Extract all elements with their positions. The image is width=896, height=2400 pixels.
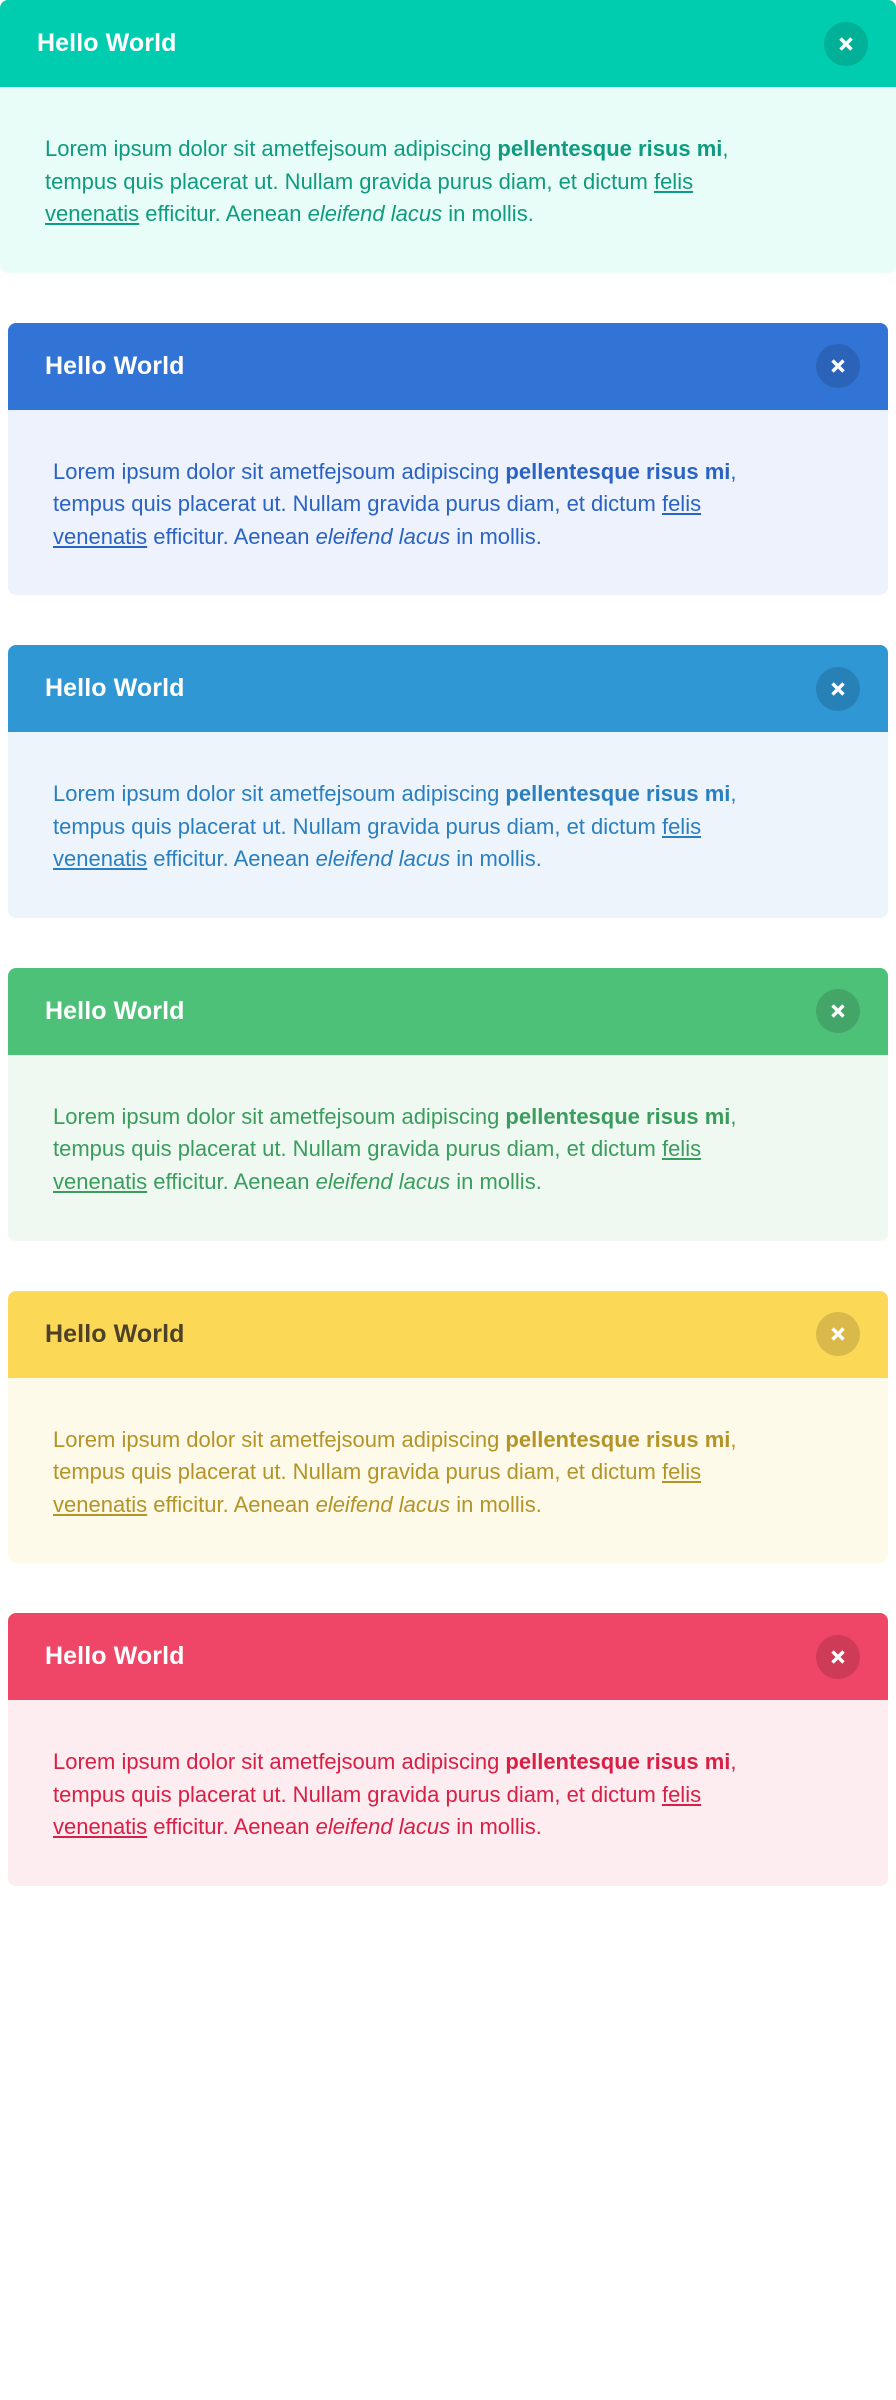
close-button-yellow[interactable] — [816, 1312, 860, 1356]
close-button-red[interactable] — [816, 1635, 860, 1679]
alert-body: Lorem ipsum dolor sit ametfejsoum adipis… — [8, 1378, 888, 1564]
alert-title-green: Hello World — [45, 999, 185, 1024]
alert-card-red: Hello World Lorem ipsum dolor sit ametfe… — [8, 1613, 888, 1886]
close-button-green[interactable] — [816, 989, 860, 1033]
alert-body: Lorem ipsum dolor sit ametfejsoum adipis… — [8, 410, 888, 596]
alert-title-yellow: Hello World — [45, 1322, 185, 1347]
alert-header-lightblue: Hello World — [8, 645, 888, 732]
alert-text-italic: eleifend lacus — [316, 524, 451, 549]
close-button-blue[interactable] — [816, 344, 860, 388]
alert-header-blue: Hello World — [8, 323, 888, 410]
alert-text-tail: in mollis. — [450, 1169, 542, 1194]
close-icon — [828, 1324, 848, 1344]
alert-text-lead: Lorem ipsum dolor sit ametfejsoum adipis… — [53, 781, 505, 806]
alert-title-lightblue: Hello World — [45, 676, 185, 701]
close-icon — [836, 34, 856, 54]
alert-body: Lorem ipsum dolor sit ametfejsoum adipis… — [0, 87, 896, 273]
alert-message: Lorem ipsum dolor sit ametfejsoum adipis… — [53, 1101, 753, 1199]
alert-text-lead: Lorem ipsum dolor sit ametfejsoum adipis… — [53, 459, 505, 484]
alert-text-tail: in mollis. — [442, 201, 534, 226]
alert-header-green: Hello World — [8, 968, 888, 1055]
alert-card-green: Hello World Lorem ipsum dolor sit ametfe… — [8, 968, 888, 1241]
alert-text-bold: pellentesque risus mi — [505, 1104, 730, 1129]
alert-message: Lorem ipsum dolor sit ametfejsoum adipis… — [53, 456, 753, 554]
alert-text-bold: pellentesque risus mi — [505, 1427, 730, 1452]
alert-text-lead: Lorem ipsum dolor sit ametfejsoum adipis… — [53, 1104, 505, 1129]
close-icon — [828, 1001, 848, 1021]
alert-text-italic: eleifend lacus — [316, 1492, 451, 1517]
alert-title-red: Hello World — [45, 1644, 185, 1669]
alert-text-tail: in mollis. — [450, 1814, 542, 1839]
alert-message: Lorem ipsum dolor sit ametfejsoum adipis… — [45, 133, 745, 231]
alert-text-lead: Lorem ipsum dolor sit ametfejsoum adipis… — [53, 1749, 505, 1774]
alert-title-blue: Hello World — [45, 354, 185, 379]
alert-text-bold: pellentesque risus mi — [505, 781, 730, 806]
alert-card-lightblue: Hello World Lorem ipsum dolor sit ametfe… — [8, 645, 888, 918]
alert-text-bold: pellentesque risus mi — [505, 1749, 730, 1774]
alert-header-red: Hello World — [8, 1613, 888, 1700]
alert-message: Lorem ipsum dolor sit ametfejsoum adipis… — [53, 778, 753, 876]
alert-header-yellow: Hello World — [8, 1291, 888, 1378]
alert-body: Lorem ipsum dolor sit ametfejsoum adipis… — [8, 1700, 888, 1886]
alert-text-after-link: efficitur. Aenean — [139, 201, 307, 226]
close-icon — [828, 356, 848, 376]
alert-text-bold: pellentesque risus mi — [505, 459, 730, 484]
alert-text-italic: eleifend lacus — [316, 1814, 451, 1839]
alert-text-tail: in mollis. — [450, 846, 542, 871]
alert-text-italic: eleifend lacus — [316, 846, 451, 871]
alert-card-blue: Hello World Lorem ipsum dolor sit ametfe… — [8, 323, 888, 596]
close-icon — [828, 1647, 848, 1667]
alert-card-stack: Hello World Lorem ipsum dolor sit ametfe… — [0, 0, 896, 1886]
alert-title-teal: Hello World — [37, 31, 177, 56]
alert-text-tail: in mollis. — [450, 524, 542, 549]
alert-text-after-link: efficitur. Aenean — [147, 1814, 315, 1839]
close-icon — [828, 679, 848, 699]
alert-text-after-link: efficitur. Aenean — [147, 846, 315, 871]
alert-text-tail: in mollis. — [450, 1492, 542, 1517]
alert-message: Lorem ipsum dolor sit ametfejsoum adipis… — [53, 1746, 753, 1844]
alert-text-italic: eleifend lacus — [316, 1169, 451, 1194]
close-button-lightblue[interactable] — [816, 667, 860, 711]
alert-card-yellow: Hello World Lorem ipsum dolor sit ametfe… — [8, 1291, 888, 1564]
alert-body: Lorem ipsum dolor sit ametfejsoum adipis… — [8, 1055, 888, 1241]
alert-text-after-link: efficitur. Aenean — [147, 1492, 315, 1517]
alert-text-lead: Lorem ipsum dolor sit ametfejsoum adipis… — [53, 1427, 505, 1452]
alert-card-teal: Hello World Lorem ipsum dolor sit ametfe… — [0, 0, 896, 273]
alert-text-after-link: efficitur. Aenean — [147, 524, 315, 549]
alert-message: Lorem ipsum dolor sit ametfejsoum adipis… — [53, 1424, 753, 1522]
close-button-teal[interactable] — [824, 22, 868, 66]
alert-text-bold: pellentesque risus mi — [497, 136, 722, 161]
alert-body: Lorem ipsum dolor sit ametfejsoum adipis… — [8, 732, 888, 918]
alert-header-teal: Hello World — [0, 0, 896, 87]
alert-text-italic: eleifend lacus — [308, 201, 443, 226]
alert-text-lead: Lorem ipsum dolor sit ametfejsoum adipis… — [45, 136, 497, 161]
alert-text-after-link: efficitur. Aenean — [147, 1169, 315, 1194]
